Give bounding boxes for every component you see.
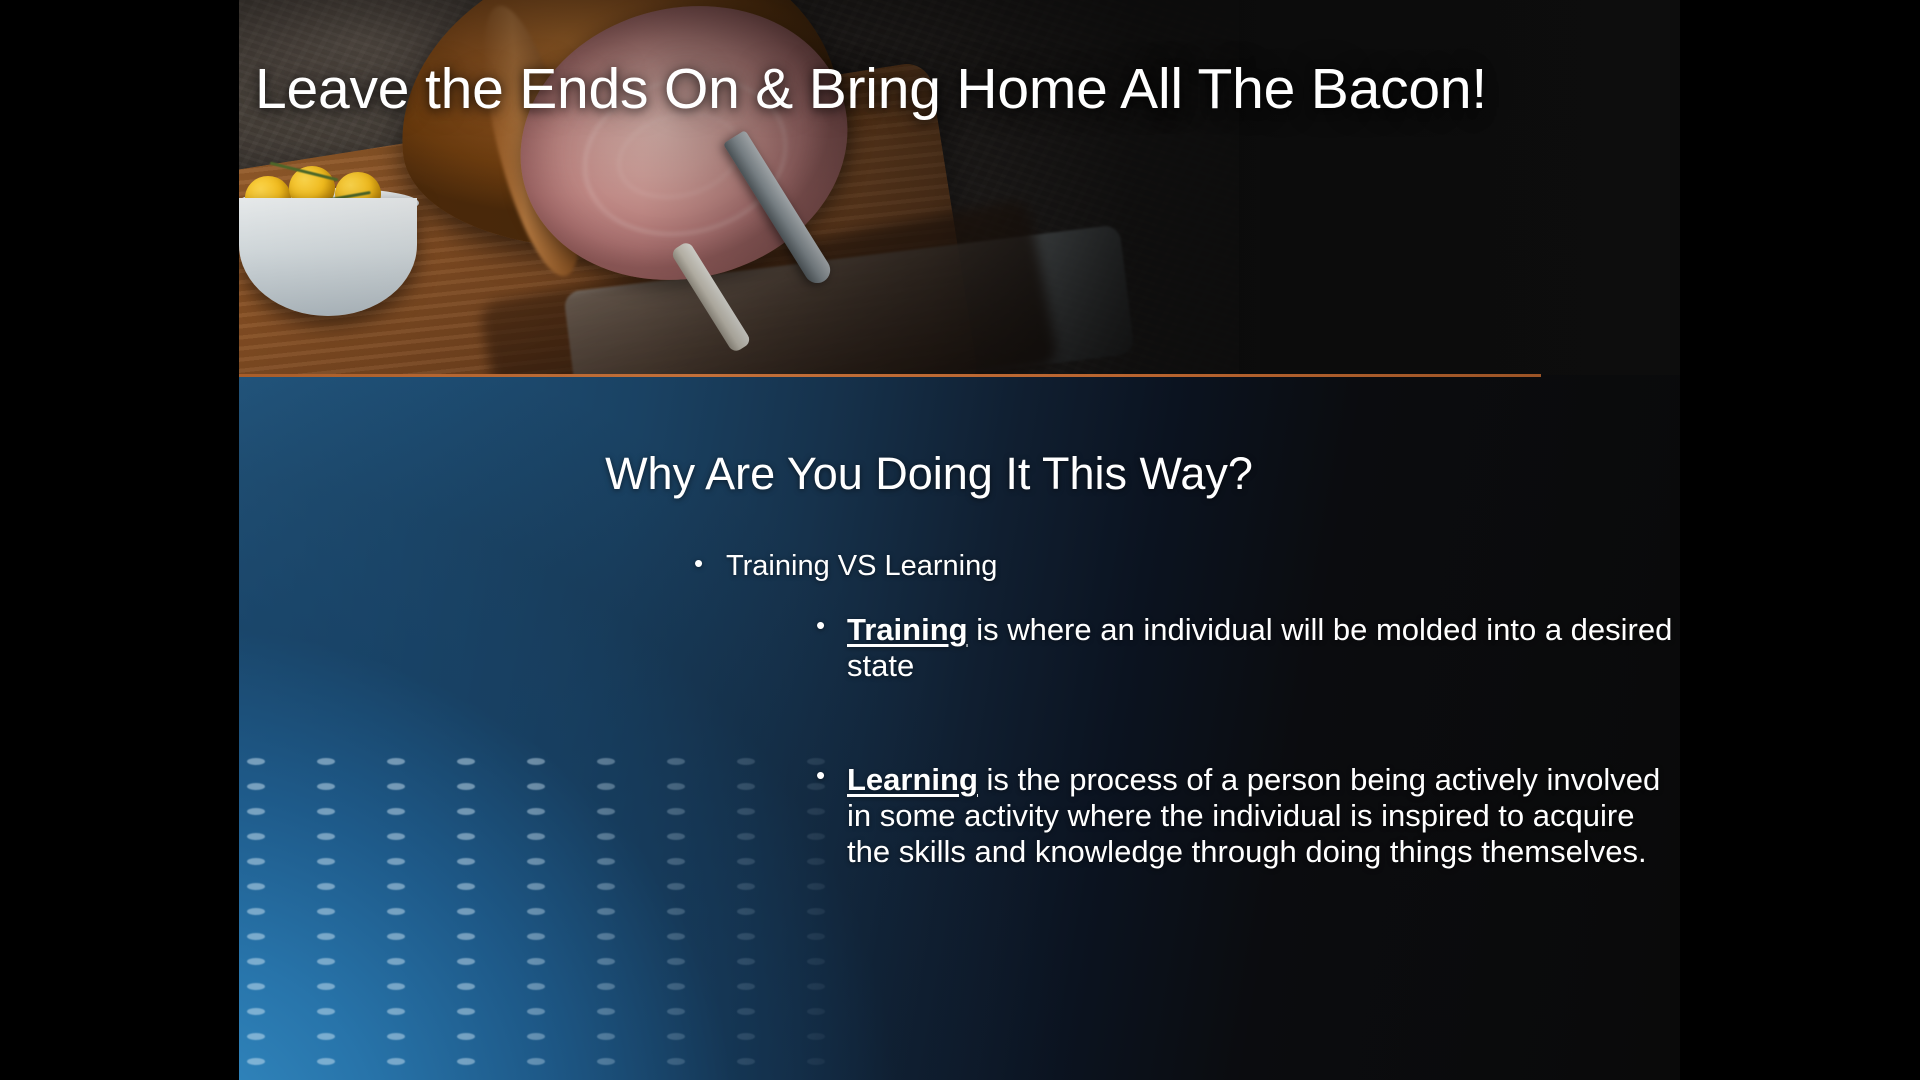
- decorative-dash: [247, 883, 265, 890]
- decorative-dash: [667, 1008, 685, 1015]
- decorative-dash: [667, 933, 685, 940]
- decorative-dash: [317, 908, 335, 915]
- decorative-dash: [317, 1008, 335, 1015]
- decorative-dash: [457, 883, 475, 890]
- decorative-dash: [247, 958, 265, 965]
- decorative-dash: [807, 933, 825, 940]
- term-training: Training: [847, 612, 968, 647]
- decorative-dash: [317, 1058, 335, 1065]
- decorative-dash: [317, 983, 335, 990]
- decorative-dash: [457, 958, 475, 965]
- accent-divider-line: [239, 374, 1541, 377]
- decorative-dash: [317, 1033, 335, 1040]
- decorative-dash: [457, 933, 475, 940]
- decorative-dash: [527, 883, 545, 890]
- decorative-dash: [737, 983, 755, 990]
- decorative-dash: [807, 908, 825, 915]
- decorative-dash: [667, 883, 685, 890]
- decorative-dash: [737, 908, 755, 915]
- decorative-dash: [387, 983, 405, 990]
- decorative-dash: [527, 933, 545, 940]
- decorative-dash: [527, 1033, 545, 1040]
- decorative-dash: [317, 958, 335, 965]
- decorative-dash: [597, 908, 615, 915]
- decorative-dash: [247, 933, 265, 940]
- decorative-dash: [387, 1008, 405, 1015]
- letterbox-bar-left: [0, 0, 239, 1080]
- decorative-dash: [807, 1033, 825, 1040]
- decorative-dash: [527, 1008, 545, 1015]
- decorative-dash: [457, 908, 475, 915]
- decorative-dash: [737, 933, 755, 940]
- decorative-dash: [667, 1058, 685, 1065]
- decorative-dash: [597, 1033, 615, 1040]
- letterbox-bar-right: [1680, 0, 1920, 1080]
- decorative-dash: [457, 1033, 475, 1040]
- decorative-dash: [387, 883, 405, 890]
- decorative-dash: [737, 958, 755, 965]
- decorative-dash: [807, 1008, 825, 1015]
- decorative-dash: [527, 983, 545, 990]
- decorative-dash: [737, 883, 755, 890]
- decorative-dash: [597, 983, 615, 990]
- decorative-dash: [667, 983, 685, 990]
- decorative-dash: [387, 933, 405, 940]
- decorative-dash: [387, 1058, 405, 1065]
- decorative-dash: [457, 1008, 475, 1015]
- decorative-dash: [247, 1008, 265, 1015]
- decorative-dash: [737, 1008, 755, 1015]
- decorative-dash: [667, 908, 685, 915]
- decorative-dash: [807, 1058, 825, 1065]
- decorative-dash: [247, 908, 265, 915]
- section-heading: Why Are You Doing It This Way?: [239, 448, 1619, 500]
- decorative-dash: [387, 1033, 405, 1040]
- decorative-dash: [247, 983, 265, 990]
- decorative-dash: [597, 933, 615, 940]
- decorative-dash: [737, 1058, 755, 1065]
- decorative-dash: [807, 958, 825, 965]
- decorative-dash: [247, 1058, 265, 1065]
- decorative-dash: [247, 1033, 265, 1040]
- bullet-list: Training VS Learning Training is where a…: [239, 548, 1680, 870]
- decorative-dash: [457, 1058, 475, 1065]
- decorative-dash: [527, 958, 545, 965]
- bullet-level1-training-vs-learning: Training VS Learning: [726, 548, 1680, 585]
- decorative-dash: [527, 908, 545, 915]
- decorative-dash: [597, 958, 615, 965]
- decorative-dash: [807, 983, 825, 990]
- presentation-viewport: Leave the Ends On & Bring Home All The B…: [0, 0, 1920, 1080]
- bullet-level2-learning: Learning is the process of a person bein…: [847, 762, 1677, 870]
- decorative-dash: [737, 1033, 755, 1040]
- decorative-dash: [457, 983, 475, 990]
- decorative-dash: [597, 1058, 615, 1065]
- decorative-dash: [667, 958, 685, 965]
- term-learning: Learning: [847, 762, 978, 797]
- decorative-dash: [597, 1008, 615, 1015]
- slide-canvas: Leave the Ends On & Bring Home All The B…: [239, 0, 1680, 1080]
- bullet-training-text: is where an individual will be molded in…: [847, 612, 1672, 683]
- decorative-dash: [597, 883, 615, 890]
- decorative-dash: [387, 958, 405, 965]
- decorative-dash: [387, 908, 405, 915]
- slide-title: Leave the Ends On & Bring Home All The B…: [255, 58, 1655, 121]
- decorative-dash: [317, 933, 335, 940]
- bullet-level2-training: Training is where an individual will be …: [847, 612, 1677, 684]
- decorative-dash: [527, 1058, 545, 1065]
- decorative-dash: [317, 883, 335, 890]
- decorative-dash: [667, 1033, 685, 1040]
- decorative-dash: [807, 883, 825, 890]
